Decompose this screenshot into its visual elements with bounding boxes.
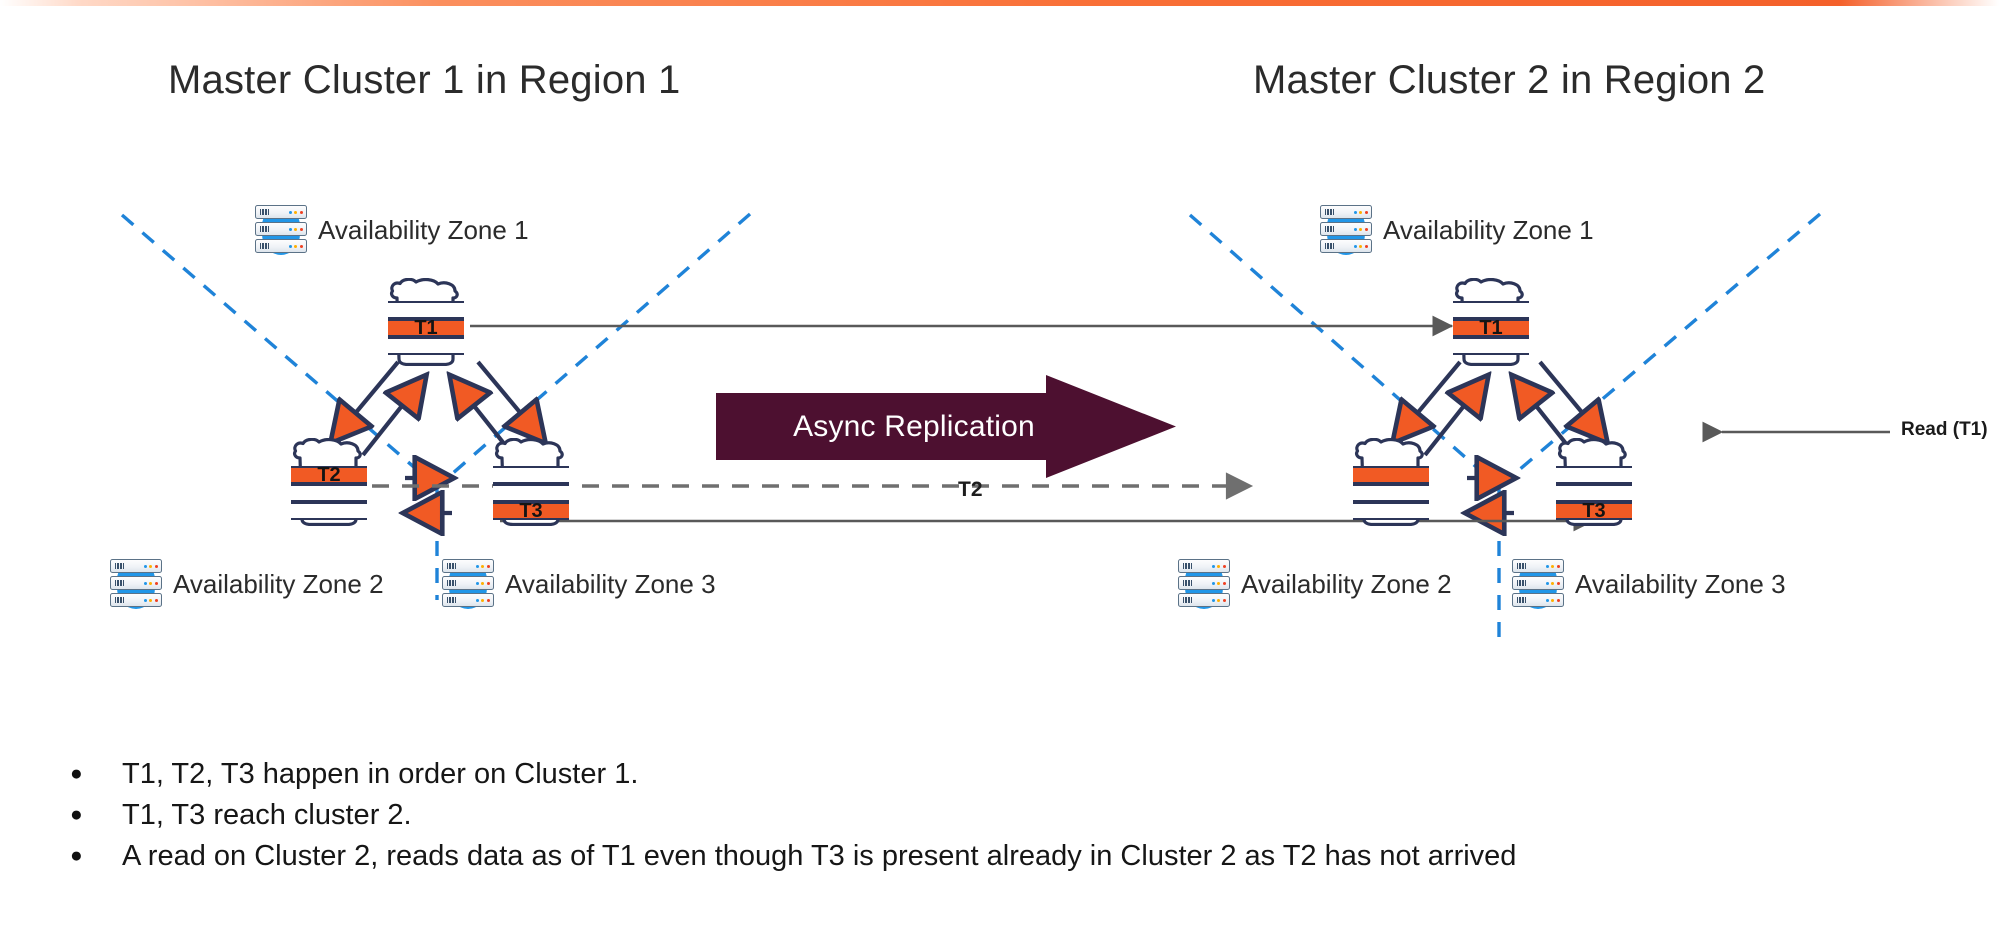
note-item: T1, T3 reach cluster 2. xyxy=(100,796,1540,835)
az-icon-c2-zone2: Availability Zone 2 xyxy=(1178,557,1452,611)
async-replication-label: Async Replication xyxy=(716,375,1112,478)
note-item: A read on Cluster 2, reads data as of T1… xyxy=(100,837,1540,876)
az-icon-c1-zone1: Availability Zone 1 xyxy=(255,203,529,257)
server-rack-icon xyxy=(1178,557,1230,611)
server-rack-icon xyxy=(1320,203,1372,257)
az-label: Availability Zone 1 xyxy=(318,215,529,246)
db-transaction-label: T1 xyxy=(388,319,464,337)
notes-list: T1, T2, T3 happen in order on Cluster 1.… xyxy=(40,755,1540,878)
az-icon-c1-zone3: Availability Zone 3 xyxy=(442,557,716,611)
db-transaction-label: T3 xyxy=(1556,502,1632,520)
async-replication-banner: Async Replication xyxy=(716,375,1176,478)
note-item: T1, T2, T3 happen in order on Cluster 1. xyxy=(100,755,1540,794)
database-c1-az3[interactable]: T3 xyxy=(490,438,572,526)
db-transaction-label: T1 xyxy=(1453,319,1529,337)
database-c2-az1[interactable]: T1 xyxy=(1450,278,1532,366)
server-rack-icon xyxy=(255,203,307,257)
az-icon-c2-zone1: Availability Zone 1 xyxy=(1320,203,1594,257)
az-label: Availability Zone 2 xyxy=(1241,569,1452,600)
az-label: Availability Zone 2 xyxy=(173,569,384,600)
pending-transaction-label: T2 xyxy=(958,478,983,502)
az-icon-c2-zone3: Availability Zone 3 xyxy=(1512,557,1786,611)
database-c2-az3[interactable]: T3 xyxy=(1553,438,1635,526)
az-label: Availability Zone 3 xyxy=(1575,569,1786,600)
az-label: Availability Zone 1 xyxy=(1383,215,1594,246)
server-rack-icon xyxy=(442,557,494,611)
database-c2-az2[interactable] xyxy=(1350,438,1432,526)
database-c1-az2[interactable]: T2 xyxy=(288,438,370,526)
az-icon-c1-zone2: Availability Zone 2 xyxy=(110,557,384,611)
database-c1-az1[interactable]: T1 xyxy=(385,278,467,366)
db-transaction-label: T3 xyxy=(493,502,569,520)
az-label: Availability Zone 3 xyxy=(505,569,716,600)
server-rack-icon xyxy=(1512,557,1564,611)
db-transaction-label: T2 xyxy=(291,466,367,484)
read-label: Read (T1) xyxy=(1901,419,1988,441)
server-rack-icon xyxy=(110,557,162,611)
